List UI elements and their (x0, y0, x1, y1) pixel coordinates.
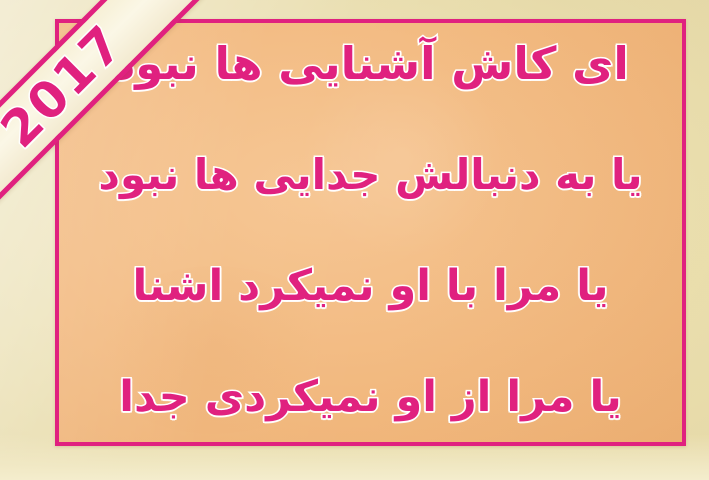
poem-panel: ای کاش آشنایی ها نبود یا به دنبالش جدایی… (55, 19, 686, 446)
poem-line-1: ای کاش آشنایی ها نبود (79, 41, 662, 87)
poem-line-4: یا مرا از او نمیکردی جدا (79, 376, 662, 420)
poem-text-block: ای کاش آشنایی ها نبود یا به دنبالش جدایی… (63, 27, 678, 438)
poster: ای کاش آشنایی ها نبود یا به دنبالش جدایی… (0, 0, 709, 480)
poem-line-3: یا مرا با او نمیکرد اشنا (79, 265, 662, 309)
poem-line-2: یا به دنبالش جدایی ها نبود (79, 154, 662, 197)
